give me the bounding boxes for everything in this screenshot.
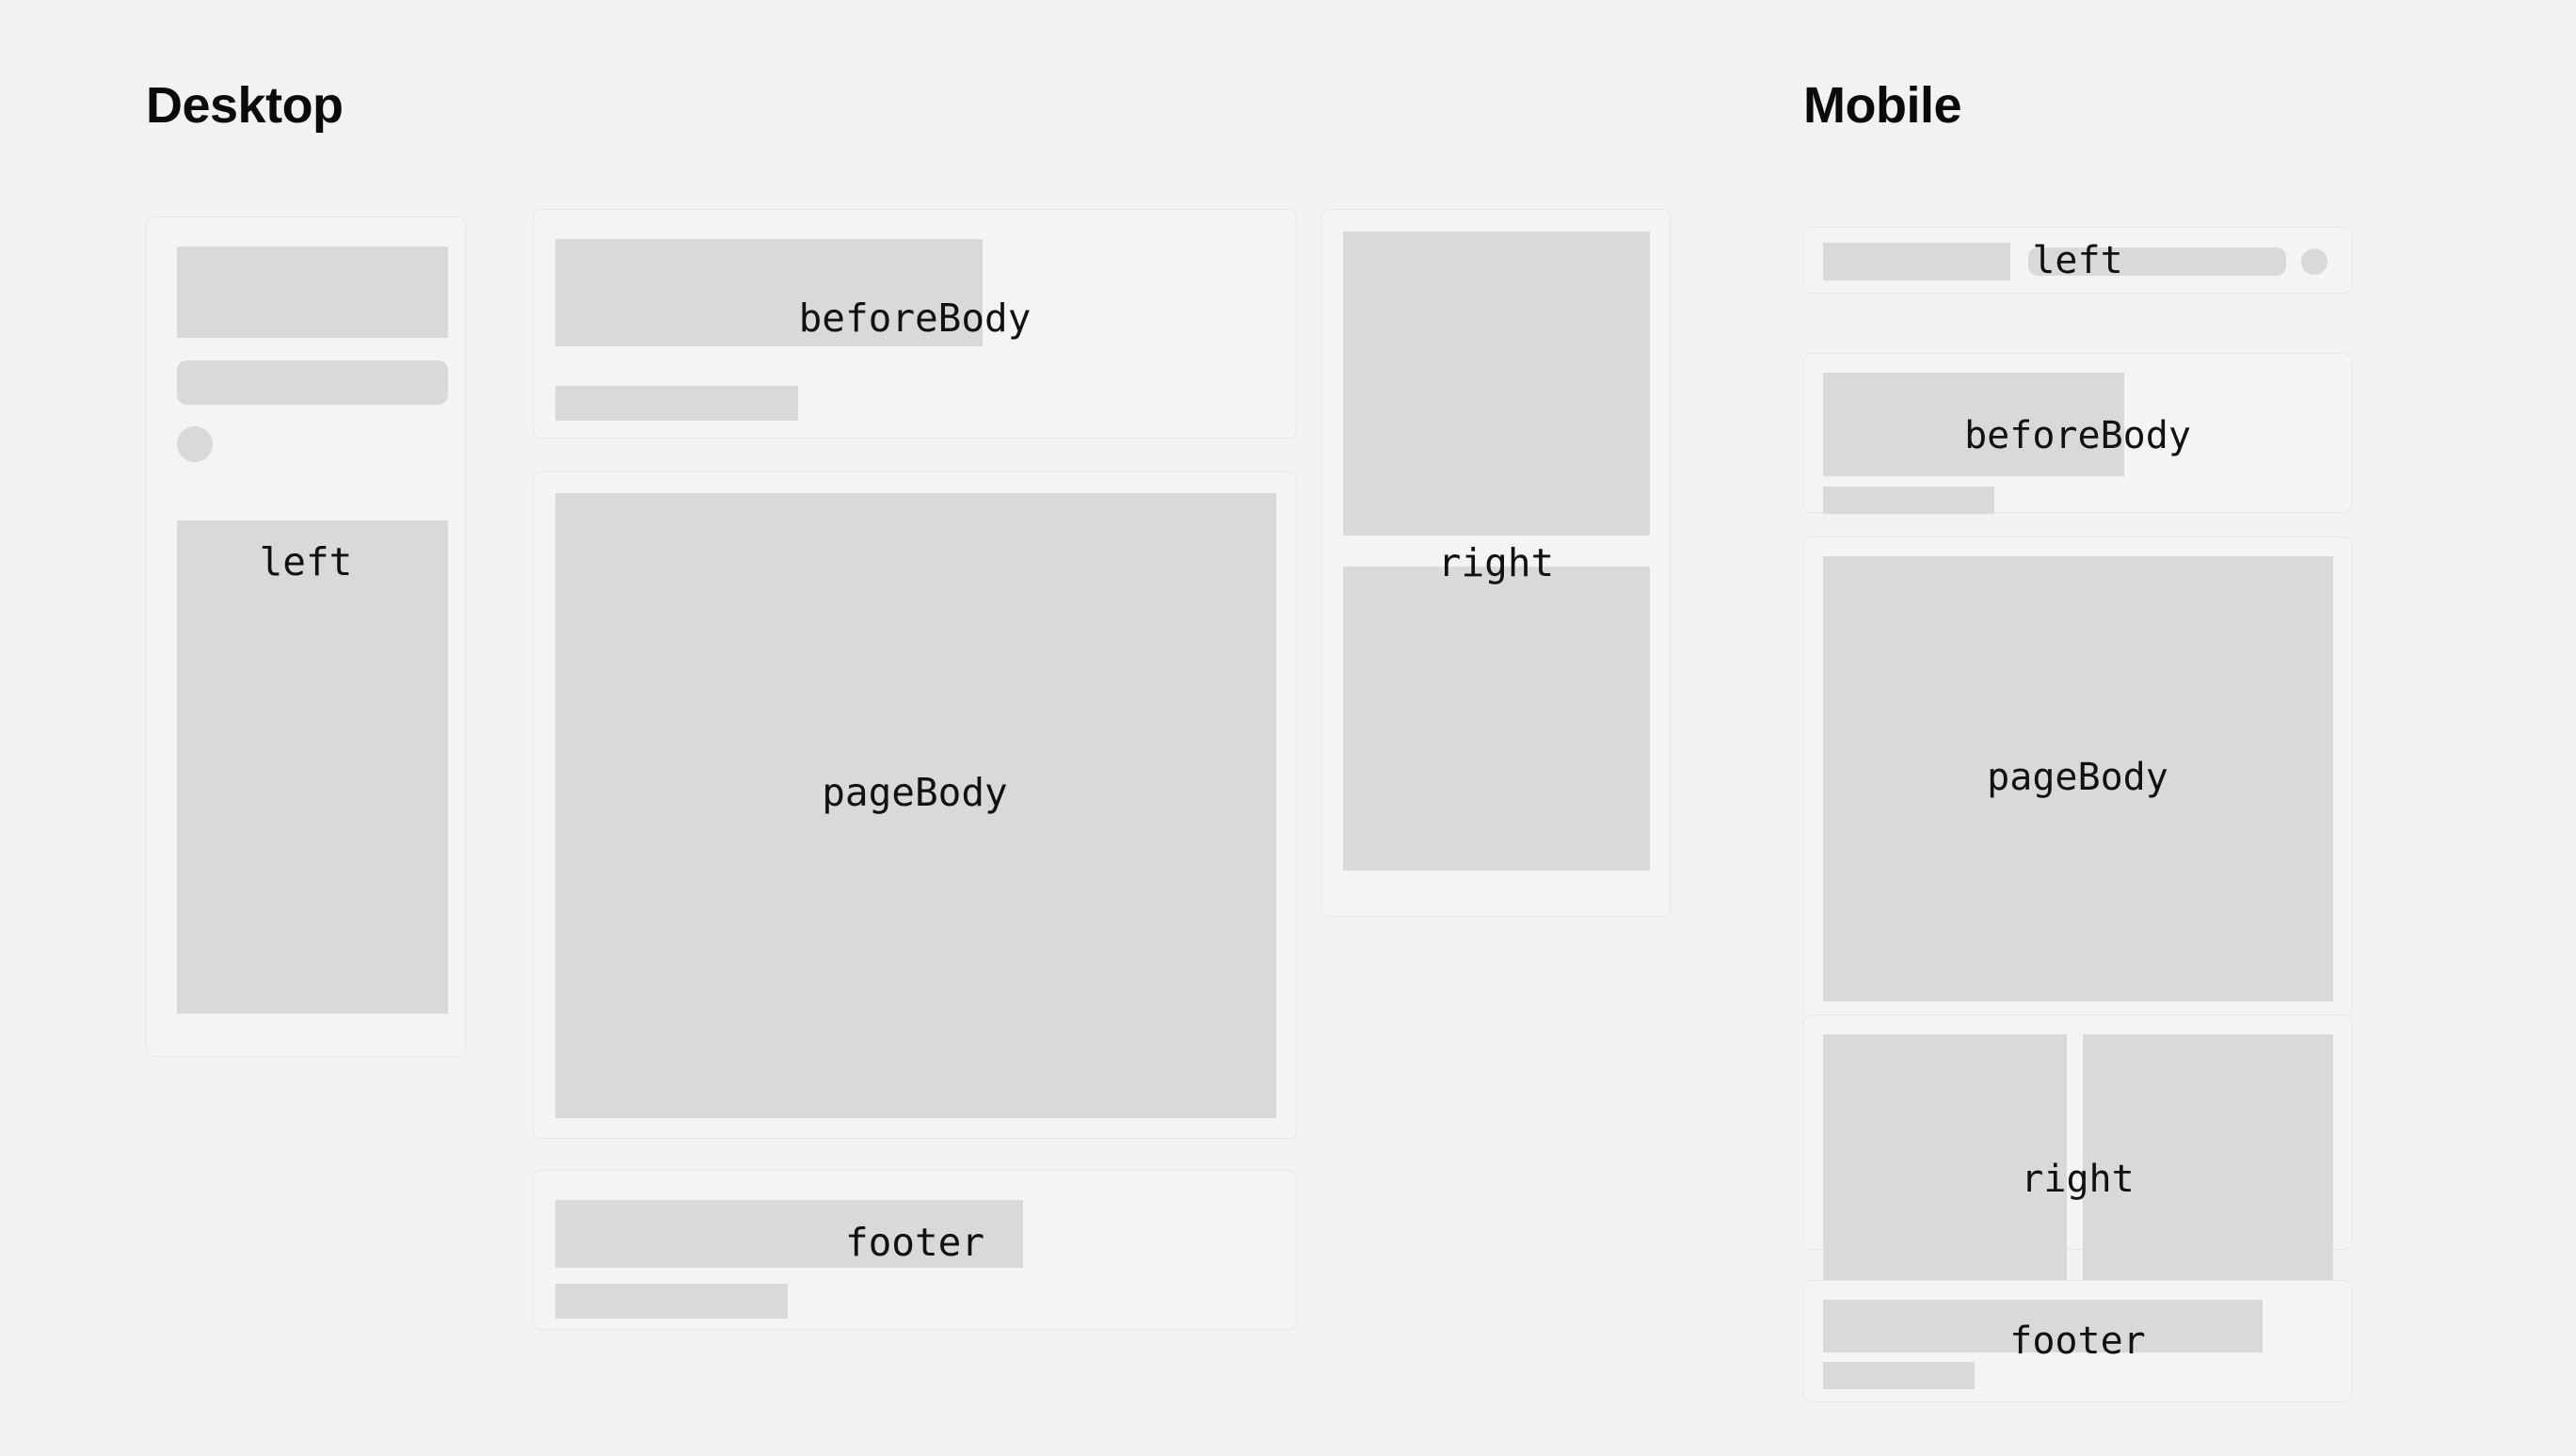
desktop-page-body-panel[interactable] <box>533 472 1297 1139</box>
desktop-page-body-block <box>555 493 1276 1118</box>
desktop-left-block-1 <box>177 247 448 338</box>
mobile-before-body-panel[interactable] <box>1803 353 2352 513</box>
desktop-footer-block-2 <box>555 1284 788 1319</box>
mobile-left-panel[interactable] <box>1803 227 2352 294</box>
mobile-page-body-block <box>1823 556 2333 1001</box>
desktop-right-block-2 <box>1343 567 1650 871</box>
desktop-right-panel[interactable] <box>1321 209 1671 917</box>
desktop-section-title: Desktop <box>146 80 344 131</box>
desktop-left-block-3 <box>177 520 448 1014</box>
mobile-left-bar <box>2028 248 2286 276</box>
mobile-left-avatar-dot <box>2301 248 2328 275</box>
desktop-before-body-block-1 <box>555 239 983 346</box>
mobile-footer-block-1 <box>1823 1300 2263 1352</box>
desktop-before-body-panel[interactable] <box>533 209 1297 439</box>
mobile-left-block-1 <box>1823 243 2010 280</box>
desktop-left-panel[interactable] <box>146 216 466 1057</box>
mobile-section-title: Mobile <box>1803 80 1961 131</box>
mobile-footer-panel[interactable] <box>1803 1280 2352 1402</box>
desktop-left-avatar-dot <box>177 426 213 462</box>
mobile-right-block-2 <box>2083 1034 2333 1299</box>
mobile-before-body-block-1 <box>1823 373 2124 476</box>
desktop-left-block-2 <box>177 360 448 405</box>
mobile-footer-block-2 <box>1823 1362 1975 1389</box>
desktop-footer-panel[interactable] <box>533 1170 1297 1330</box>
mobile-right-panel[interactable] <box>1803 1015 2352 1250</box>
desktop-before-body-block-2 <box>555 386 798 421</box>
desktop-footer-block-1 <box>555 1200 1023 1268</box>
mobile-right-block-1 <box>1823 1034 2067 1299</box>
mobile-page-body-panel[interactable] <box>1803 536 2352 1019</box>
mobile-before-body-block-2 <box>1823 487 1994 514</box>
desktop-right-block-1 <box>1343 232 1650 536</box>
